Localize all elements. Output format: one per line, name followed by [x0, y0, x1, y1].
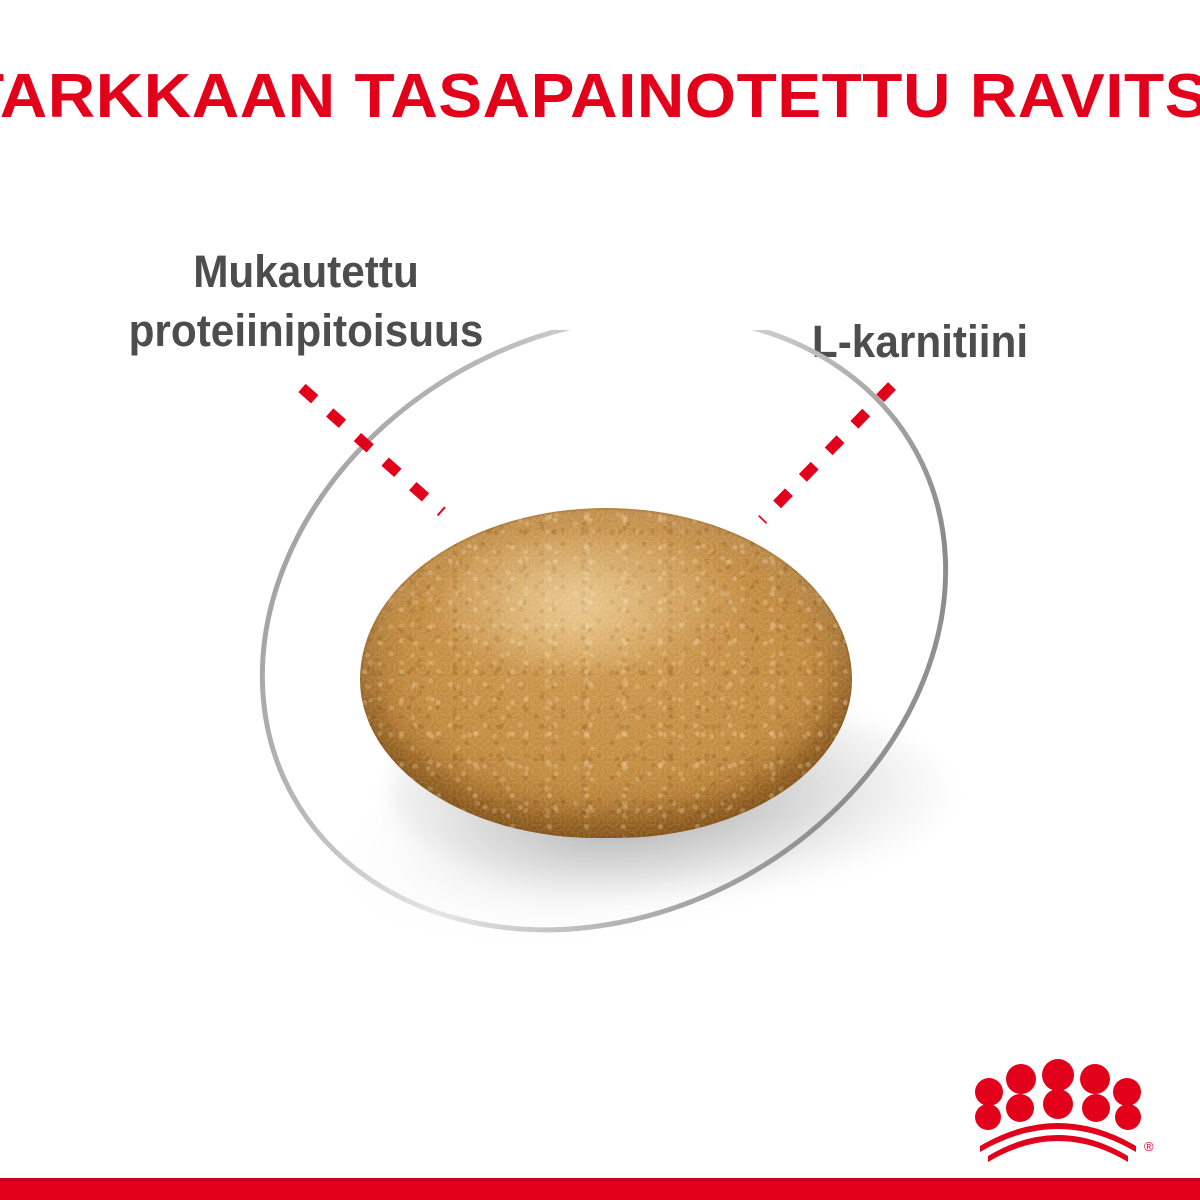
product-feature-card: TARKKAAN TASAPAINOTETTU RAVITSEMUS Mukau…	[0, 0, 1200, 1200]
callout-left-line1: Mukautettu	[62, 242, 551, 301]
crown-icon: ®	[958, 1058, 1158, 1168]
royal-canin-logo: ®	[958, 1058, 1158, 1168]
kibble-group	[360, 508, 852, 863]
kibble-rim	[360, 508, 852, 838]
kibble-illustration	[0, 330, 1200, 1070]
connector-dashed-right	[762, 386, 892, 520]
registered-mark: ®	[1144, 1139, 1154, 1154]
kibble	[360, 508, 852, 838]
footer-bar	[0, 1178, 1200, 1200]
page-title: TARKKAAN TASAPAINOTETTU RAVITSEMUS	[0, 64, 1200, 129]
